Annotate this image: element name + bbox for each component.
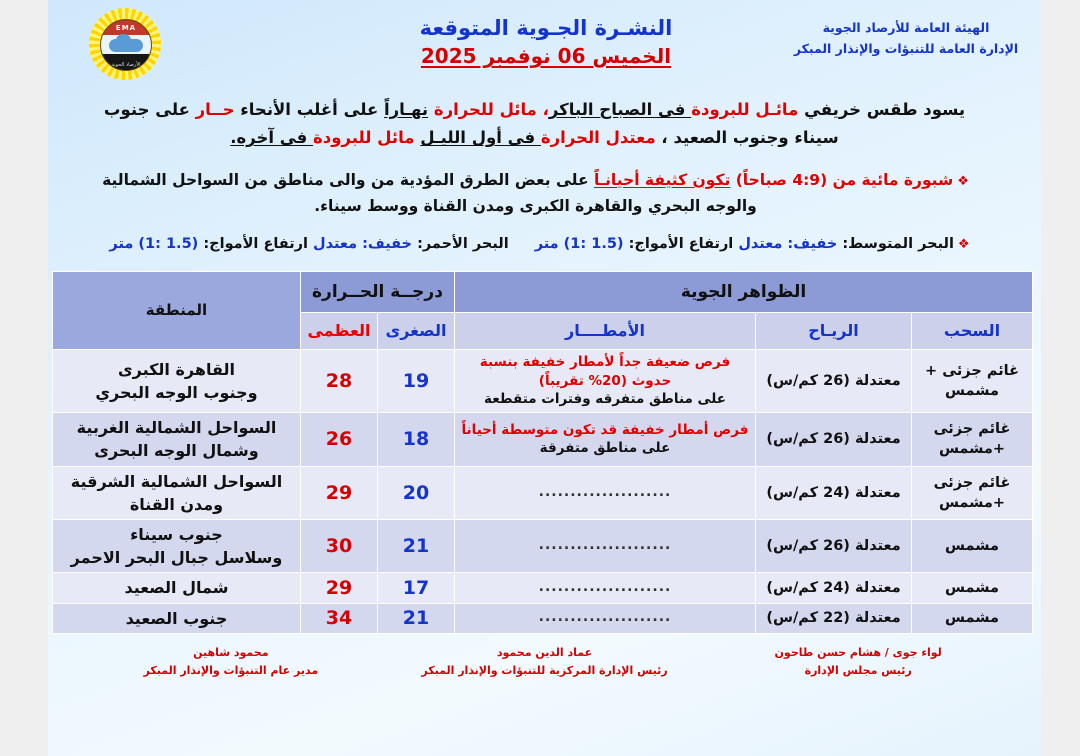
page-footer: لواء جوى / هشام حسن طاحون رئيس مجلس الإد…: [74, 644, 1015, 681]
cell-region: السواحل الشمالية الشرقية ومدن القناة: [53, 467, 300, 519]
cell-cloud: غائم جزئى +مشمس: [912, 413, 1032, 465]
cell-rain: .....................: [455, 573, 755, 602]
signature-right: محمود شاهين مدير عام التنبؤات والإنذار ا…: [74, 644, 388, 681]
cell-max-temp: 30: [301, 520, 377, 572]
red-sea-state: خفيف: معتدل: [313, 236, 412, 252]
table-row: غائم جزئى +مشمس معتدلة (26 كم/س) فرص أمط…: [53, 413, 1032, 465]
red-sea-label: البحر الأحمر:: [412, 236, 509, 252]
summary-part-1: يسود طقس خريفي: [798, 100, 965, 119]
med-wave-height: (1.5 :1) متر: [535, 236, 624, 252]
signature-middle-name: عماد الدين محمود: [388, 644, 702, 663]
cell-region: السواحل الشمالية الغربية وشمال الوجه الب…: [53, 413, 300, 465]
cell-region: شمال الصعيد: [53, 573, 300, 602]
fog-part-2: تكون كثيفة أحيانـاً: [594, 171, 730, 189]
table-header-groups: الظواهر الجوية درجــة الحــرارة المنطقة: [53, 272, 1032, 312]
org-line-2: الإدارة العامة للتنبؤات والإنذار المبكر: [781, 39, 1031, 60]
cloud-line-1: غائم جزئى: [934, 421, 1011, 437]
cell-min-temp: 21: [378, 604, 454, 633]
rain-black-text: على مناطق متفرقه وفترات متقطعة: [459, 390, 751, 409]
cell-rain: .....................: [455, 467, 755, 519]
summary-part-9: معتدل الحرارة: [541, 128, 656, 147]
bulletin-date: الخميس 06 نوفمبر 2025: [381, 42, 711, 70]
region-line-1: السواحل الشمالية الغربية: [77, 418, 277, 437]
weather-summary: يسود طقس خريفي مائـل للبرودة فى الصباح ا…: [88, 96, 981, 153]
cell-cloud: مشمس: [912, 604, 1032, 633]
table-row: غائم جزئى + مشمس معتدلة (26 كم/س) فرص ضع…: [53, 350, 1032, 413]
signature-right-title: مدير عام التنبؤات والإنذار المبكر: [74, 662, 388, 681]
med-sea-label: البحر المتوسط:: [837, 236, 954, 252]
signature-left-title: رئيس مجلس الإدارة: [701, 662, 1015, 681]
red-wave-height: (1.5 :1) متر: [109, 236, 198, 252]
cell-min-temp: 21: [378, 520, 454, 572]
cell-max-temp: 29: [301, 573, 377, 602]
table-row: مشمس معتدلة (26 كم/س) ..................…: [53, 520, 1032, 572]
cloud-line-2: +مشمس: [939, 495, 1005, 511]
cloud-line-2: مشمس: [945, 383, 999, 399]
rain-placeholder-dots: .....................: [539, 484, 672, 500]
col-min-temp: الصغرى: [378, 313, 454, 349]
summary-part-6: على أغلب الأنحاء: [235, 100, 384, 119]
col-max-temp: العظمى: [301, 313, 377, 349]
fog-bullet: ❖شبورة مائية من (4:9 صباحاً) تكون كثيفة …: [82, 167, 989, 220]
cell-wind: معتدلة (24 كم/س): [756, 467, 911, 519]
cell-min-temp: 20: [378, 467, 454, 519]
cell-rain: فرص ضعيفة جداً لأمطار خفيفة بنسبة حدوث (…: [455, 350, 755, 413]
logo-text: EMA: [101, 24, 151, 32]
ema-logo: EMA الأرصاد الجوية: [89, 8, 161, 80]
signature-middle: عماد الدين محمود رئيس الإدارة المركزية ل…: [388, 644, 702, 681]
forecast-table-body: غائم جزئى + مشمس معتدلة (26 كم/س) فرص ضع…: [53, 350, 1032, 633]
cell-wind: معتدلة (24 كم/س): [756, 573, 911, 602]
region-line-1: السواحل الشمالية الشرقية: [71, 472, 282, 491]
table-row: غائم جزئى +مشمس معتدلة (24 كم/س) .......…: [53, 467, 1032, 519]
cell-region: القاهرة الكبرى وجنوب الوجه البحري: [53, 350, 300, 413]
diamond-bullet-icon-2: ❖: [958, 237, 970, 252]
cell-wind: معتدلة (26 كم/س): [756, 413, 911, 465]
summary-part-7: حــار: [196, 100, 235, 119]
cell-max-temp: 28: [301, 350, 377, 413]
region-line-2: وسلاسل جبال البحر الاحمر: [71, 548, 283, 567]
cell-cloud: غائم جزئى +مشمس: [912, 467, 1032, 519]
rain-placeholder-dots: .....................: [539, 579, 672, 595]
cell-max-temp: 26: [301, 413, 377, 465]
group-phenomena: الظواهر الجوية: [455, 272, 1032, 312]
cloud-line-1: غائم جزئى +: [925, 363, 1019, 379]
rain-placeholder-dots: .....................: [539, 609, 672, 625]
region-line-2: وجنوب الوجه البحري: [95, 383, 257, 402]
rain-red-text: فرص أمطار خفيفة قد تكون متوسطة أحياناً: [459, 421, 751, 440]
cloud-icon: [109, 39, 143, 52]
summary-part-3: فى الصباح الباكر: [549, 100, 691, 119]
cloud-line-2: +مشمس: [939, 441, 1005, 457]
rain-red-text: فرص ضعيفة جداً لأمطار خفيفة بنسبة حدوث (…: [459, 353, 751, 391]
cell-region: جنوب سيناء وسلاسل جبال البحر الاحمر: [53, 520, 300, 572]
cell-cloud: غائم جزئى + مشمس: [912, 350, 1032, 413]
cell-min-temp: 17: [378, 573, 454, 602]
summary-part-10: فى أول الليـل: [420, 128, 541, 147]
page-title: النشـرة الجـوية المتوقعة: [381, 14, 711, 42]
signature-middle-title: رئيس الإدارة المركزية للتنبؤات والإنذار …: [388, 662, 702, 681]
signature-left: لواء جوى / هشام حسن طاحون رئيس مجلس الإد…: [701, 644, 1015, 681]
bulletin-page: EMA الأرصاد الجوية النشـرة الجـوية المتو…: [48, 0, 1041, 756]
cell-rain: فرص أمطار خفيفة قد تكون متوسطة أحياناً ع…: [455, 413, 755, 465]
med-sea-state: خفيف: معتدل: [738, 236, 837, 252]
cell-max-temp: 29: [301, 467, 377, 519]
summary-part-2: مائـل للبرودة: [691, 100, 798, 119]
region-line-1: جنوب سيناء: [130, 525, 223, 544]
signature-right-name: محمود شاهين: [74, 644, 388, 663]
fog-part-1: شبورة مائية من (4:9 صباحاً): [730, 171, 953, 189]
table-row: مشمس معتدلة (22 كم/س) ..................…: [53, 604, 1032, 633]
forecast-table-wrap: الظواهر الجوية درجــة الحــرارة المنطقة …: [56, 271, 1033, 634]
region-line-2: ومدن القناة: [130, 495, 223, 514]
cell-max-temp: 34: [301, 604, 377, 633]
org-line-1: الهيئة العامة للأرصاد الجوية: [781, 18, 1031, 39]
summary-part-12: فى آخره.: [230, 128, 313, 147]
cloud-line-1: غائم جزئى: [934, 475, 1011, 491]
cloud-line-1: مشمس: [945, 538, 999, 554]
col-rain: الأمطــــار: [455, 313, 755, 349]
cloud-line-1: مشمس: [945, 580, 999, 596]
group-temperature: درجــة الحــرارة: [301, 272, 454, 312]
sea-conditions: ❖البحر المتوسط: خفيف: معتدل ارتفاع الأمو…: [82, 233, 997, 256]
cell-rain: .....................: [455, 604, 755, 633]
page-header: EMA الأرصاد الجوية النشـرة الجـوية المتو…: [48, 0, 1041, 92]
region-line-1: شمال الصعيد: [124, 578, 228, 597]
summary-part-11: مائل للبرودة: [313, 128, 420, 147]
cloud-line-1: مشمس: [945, 610, 999, 626]
cell-cloud: مشمس: [912, 573, 1032, 602]
cell-min-temp: 19: [378, 350, 454, 413]
diamond-bullet-icon: ❖: [957, 174, 969, 189]
cell-rain: .....................: [455, 520, 755, 572]
cell-wind: معتدلة (26 كم/س): [756, 350, 911, 413]
cell-cloud: مشمس: [912, 520, 1032, 572]
region-line-2: وشمال الوجه البحرى: [94, 441, 258, 460]
cell-min-temp: 18: [378, 413, 454, 465]
logo-subtext: الأرصاد الجوية: [101, 62, 151, 68]
table-row: مشمس معتدلة (24 كم/س) ..................…: [53, 573, 1032, 602]
rain-black-text: على مناطق متفرقة: [459, 439, 751, 458]
summary-part-4: ، مائل للحرارة: [428, 100, 549, 119]
cell-region: جنوب الصعيد: [53, 604, 300, 633]
title-block: النشـرة الجـوية المتوقعة الخميس 06 نوفمب…: [381, 14, 711, 70]
cell-wind: معتدلة (22 كم/س): [756, 604, 911, 633]
col-wind: الريـاح: [756, 313, 911, 349]
med-wave-label: ارتفاع الأمواج:: [624, 236, 739, 252]
red-wave-label: ارتفاع الأمواج:: [198, 236, 313, 252]
cell-wind: معتدلة (26 كم/س): [756, 520, 911, 572]
col-cloud: السحب: [912, 313, 1032, 349]
col-region: المنطقة: [53, 272, 300, 349]
forecast-table: الظواهر الجوية درجــة الحــرارة المنطقة …: [52, 271, 1033, 634]
region-line-1: القاهرة الكبرى: [118, 360, 235, 379]
signature-left-name: لواء جوى / هشام حسن طاحون: [701, 644, 1015, 663]
region-line-1: جنوب الصعيد: [126, 609, 228, 628]
emblem-icon: EMA الأرصاد الجوية: [100, 19, 152, 71]
summary-part-5: نهـاراً: [384, 100, 428, 119]
rain-placeholder-dots: .....................: [539, 537, 672, 553]
organization-block: الهيئة العامة للأرصاد الجوية الإدارة الع…: [781, 18, 1031, 59]
